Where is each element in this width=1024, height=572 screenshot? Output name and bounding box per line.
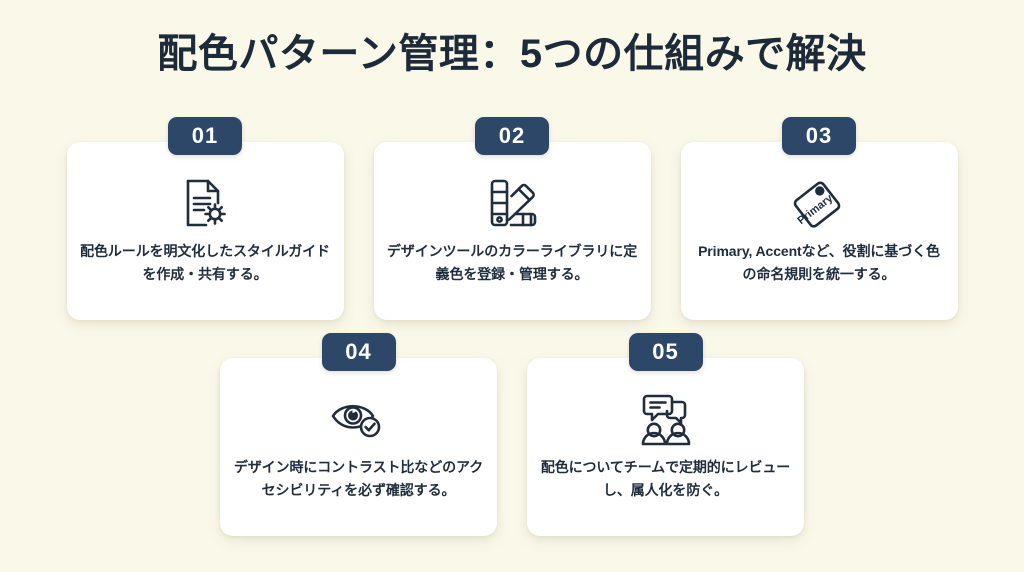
team-discussion-icon	[630, 388, 702, 450]
page-title: 配色パターン管理：5つの仕組みで解決	[0, 30, 1024, 78]
step-card-05[interactable]: 05 配色についてチームで定期的にレビューし、属人化を防ぐ。	[527, 358, 804, 536]
step-card-03[interactable]: 03 Primary Primary, Accentなど、役割に基づく色の命名規…	[681, 142, 958, 320]
step-description: Primary, Accentなど、役割に基づく色の命名規則を統一する。	[693, 240, 945, 285]
card-row-top: 01 配色ルールを明文化したスタイルガイドを作成・共有する。 02	[0, 142, 1024, 320]
color-swatch-palette-icon	[476, 172, 548, 234]
slide-canvas: 配色パターン管理：5つの仕組みで解決 01 配色ルールを明文化したスタイルガイド…	[0, 0, 1024, 572]
step-card-01[interactable]: 01 配色ルールを明文化したスタイルガイドを作成・共有する。	[67, 142, 344, 320]
step-number-badge: 01	[168, 117, 242, 155]
step-number-badge: 05	[629, 333, 703, 371]
step-number-badge: 03	[782, 117, 856, 155]
document-gear-icon	[169, 172, 241, 234]
eye-check-icon	[323, 388, 395, 450]
step-description: 配色についてチームで定期的にレビューし、属人化を防ぐ。	[540, 456, 792, 501]
step-description: デザインツールのカラーライブラリに定義色を登録・管理する。	[386, 240, 638, 285]
step-number-badge: 02	[475, 117, 549, 155]
card-row-bottom: 04 デザイン時にコントラスト比などのアクセシビリティを必ず確認する。 05	[0, 358, 1024, 536]
price-tag-icon: Primary	[783, 172, 855, 234]
step-description: 配色ルールを明文化したスタイルガイドを作成・共有する。	[79, 240, 331, 285]
step-description: デザイン時にコントラスト比などのアクセシビリティを必ず確認する。	[233, 456, 485, 501]
step-card-02[interactable]: 02 デザインツールのカラーライブラリに定義色を登録・管理する。	[374, 142, 651, 320]
step-card-04[interactable]: 04 デザイン時にコントラスト比などのアクセシビリティを必ず確認する。	[220, 358, 497, 536]
step-number-badge: 04	[322, 333, 396, 371]
